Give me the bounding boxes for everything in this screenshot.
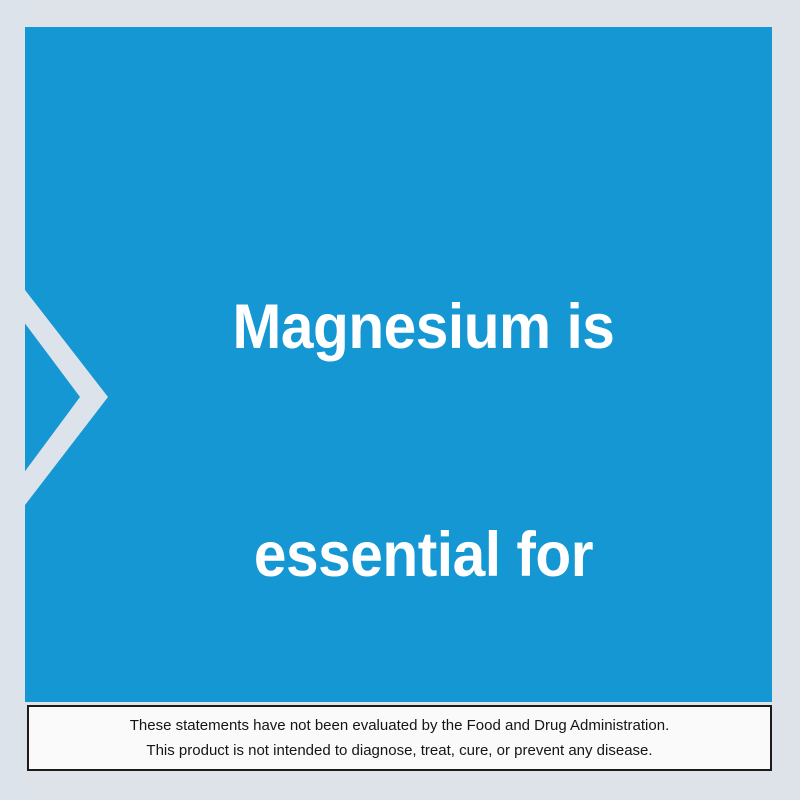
disclaimer-box: These statements have not been evaluated… [27, 705, 772, 771]
headline-line-2: essential for [76, 517, 771, 593]
page-title: Magnesium is essential for whole-body he… [76, 137, 771, 702]
headline-line-1: Magnesium is [76, 289, 771, 365]
disclaimer-line-1: These statements have not been evaluated… [130, 713, 670, 738]
disclaimer-line-2: This product is not intended to diagnose… [146, 738, 652, 763]
graphic-canvas: Magnesium is essential for whole-body he… [0, 0, 800, 800]
blue-panel: Magnesium is essential for whole-body he… [25, 27, 772, 702]
